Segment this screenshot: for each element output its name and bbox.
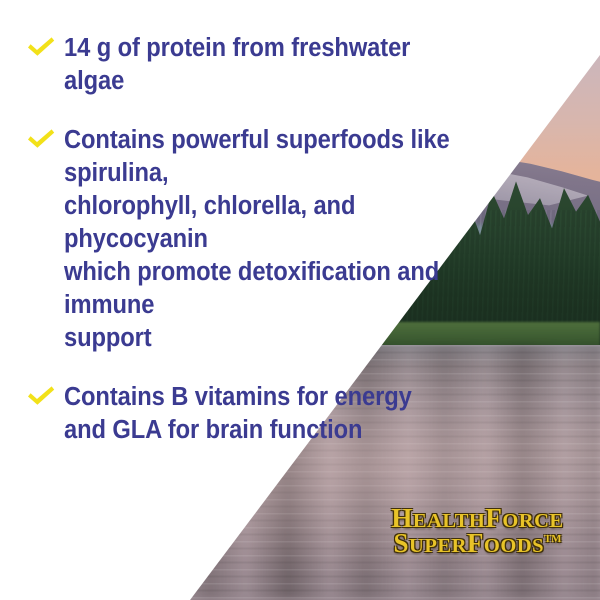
list-item-label: Contains B vitamins for energy and GLA f…: [64, 381, 412, 447]
trademark-symbol: TM: [544, 533, 561, 545]
logo-glyph-f: F: [485, 503, 502, 533]
logo-glyph-uper: UPER: [409, 535, 467, 557]
list-item-label: Contains powerful superfoods like spirul…: [64, 124, 466, 355]
list-item: Contains powerful superfoods like spirul…: [26, 124, 496, 355]
brand-logo: HEALTHFORCE SUPERFOODSTM: [370, 505, 585, 557]
logo-glyph-f2: F: [467, 528, 484, 558]
check-icon: [26, 126, 56, 154]
benefits-list: 14 g of protein from freshwater algae Co…: [26, 32, 496, 447]
check-icon: [26, 34, 56, 62]
logo-glyph-oods: OODS: [484, 535, 544, 557]
list-item: Contains B vitamins for energy and GLA f…: [26, 381, 496, 447]
check-icon: [26, 383, 56, 411]
promo-graphic: 14 g of protein from freshwater algae Co…: [0, 0, 600, 600]
logo-line-superfoods: SUPERFOODSTM: [370, 530, 585, 557]
list-item-label: 14 g of protein from freshwater algae: [64, 32, 466, 98]
logo-glyph-orce: ORCE: [502, 510, 563, 532]
list-item: 14 g of protein from freshwater algae: [26, 32, 496, 98]
logo-glyph-s: S: [394, 528, 410, 558]
